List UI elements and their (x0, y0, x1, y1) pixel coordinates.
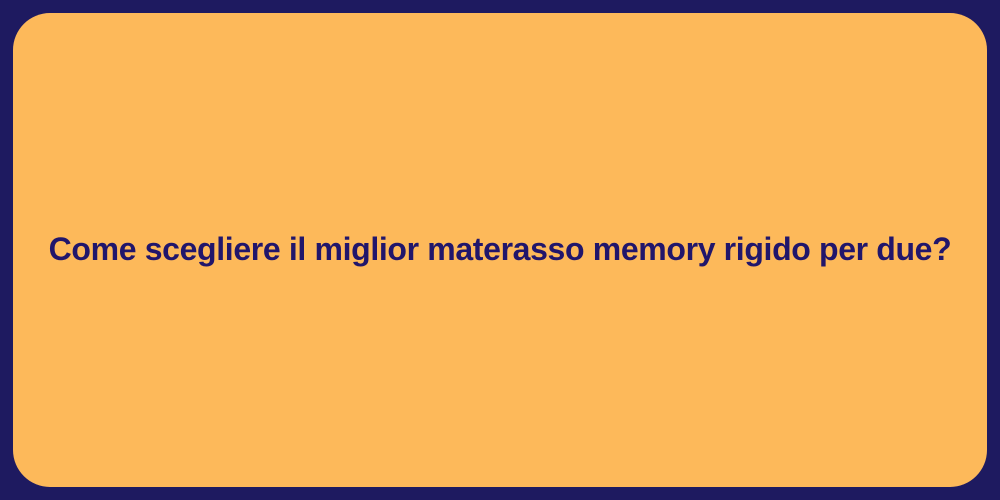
banner-root: Come scegliere il miglior materasso memo… (0, 0, 1000, 500)
headline-container: Come scegliere il miglior materasso memo… (13, 231, 987, 269)
page-title: Come scegliere il miglior materasso memo… (49, 231, 952, 269)
banner-panel: Come scegliere il miglior materasso memo… (13, 13, 987, 487)
